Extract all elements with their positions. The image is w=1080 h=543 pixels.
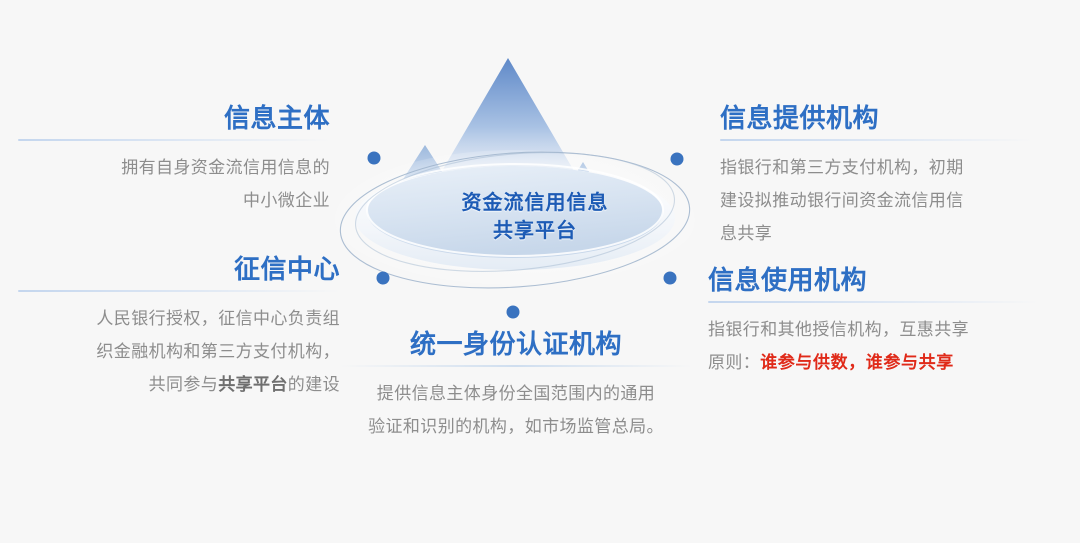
description-line: 人民银行授权，征信中心负责组 xyxy=(18,302,340,335)
node-title-unified-identity-authentication: 统一身份认证机构 xyxy=(340,330,692,359)
orbit-dot xyxy=(368,152,381,165)
description-line: 指银行和第三方支付机构，初期 xyxy=(720,151,1032,184)
node-description-information-subject: 拥有自身资金流信用信息的 中小微企业 xyxy=(18,151,330,217)
node-description-information-user: 指银行和其他授信机构，互惠共享 原则：谁参与供数，谁参与共享 xyxy=(708,313,1038,379)
orbit-dot xyxy=(377,272,390,285)
node-information-subject: 信息主体 拥有自身资金流信用信息的 中小微企业 xyxy=(18,104,330,217)
node-title-information-subject: 信息主体 xyxy=(18,104,330,133)
node-information-user: 信息使用机构 指银行和其他授信机构，互惠共享 原则：谁参与供数，谁参与共享 xyxy=(708,266,1038,379)
title-underline xyxy=(340,365,692,367)
title-underline xyxy=(708,301,1038,303)
description-prefix: 共同参与 xyxy=(149,375,219,394)
title-underline xyxy=(720,139,1032,141)
diagram-canvas: 资金流信用信息 共享平台 信息主体 拥有自身资金流信用信息的 中小微企业 征信中… xyxy=(0,0,1080,543)
description-line: 指银行和其他授信机构，互惠共享 xyxy=(708,313,1038,346)
node-title-information-user: 信息使用机构 xyxy=(708,266,1038,295)
description-line: 织金融机构和第三方支付机构， xyxy=(18,335,340,368)
node-description-unified-identity-authentication: 提供信息主体身份全国范围内的通用 验证和识别的机构，如市场监管总局。 xyxy=(340,377,692,443)
node-description-credit-reference-center: 人民银行授权，征信中心负责组 织金融机构和第三方支付机构， 共同参与共享平台的建… xyxy=(18,302,340,401)
title-underline xyxy=(18,290,340,292)
description-line: 提供信息主体身份全国范围内的通用 xyxy=(340,377,692,410)
title-underline xyxy=(18,139,330,141)
orbit-dot xyxy=(507,306,520,319)
orbit-dot xyxy=(671,153,684,166)
description-line: 原则：谁参与供数，谁参与共享 xyxy=(708,346,1038,379)
description-line: 共同参与共享平台的建设 xyxy=(18,368,340,401)
description-emphasis: 共享平台 xyxy=(218,375,288,394)
node-title-information-provider: 信息提供机构 xyxy=(720,104,1032,133)
node-information-provider: 信息提供机构 指银行和第三方支付机构，初期 建设拟推动银行间资金流信用信 息共享 xyxy=(720,104,1032,250)
description-suffix: 的建设 xyxy=(288,375,340,394)
node-credit-reference-center: 征信中心 人民银行授权，征信中心负责组 织金融机构和第三方支付机构， 共同参与共… xyxy=(18,255,340,401)
description-line: 息共享 xyxy=(720,217,1032,250)
description-highlight: 谁参与供数，谁参与共享 xyxy=(760,353,954,372)
description-line: 中小微企业 xyxy=(18,184,330,217)
node-description-information-provider: 指银行和第三方支付机构，初期 建设拟推动银行间资金流信用信 息共享 xyxy=(720,151,1032,250)
orbit-dot xyxy=(664,272,677,285)
platform-title-line2: 共享平台 xyxy=(375,218,695,246)
description-line: 建设拟推动银行间资金流信用信 xyxy=(720,184,1032,217)
platform-title: 资金流信用信息 共享平台 xyxy=(375,190,695,245)
platform-title-line1: 资金流信用信息 xyxy=(375,190,695,218)
description-line: 拥有自身资金流信用信息的 xyxy=(18,151,330,184)
node-title-credit-reference-center: 征信中心 xyxy=(18,255,340,284)
node-unified-identity-authentication: 统一身份认证机构 提供信息主体身份全国范围内的通用 验证和识别的机构，如市场监管… xyxy=(340,330,692,443)
description-prefix: 原则： xyxy=(708,353,760,372)
description-line: 验证和识别的机构，如市场监管总局。 xyxy=(340,410,692,443)
